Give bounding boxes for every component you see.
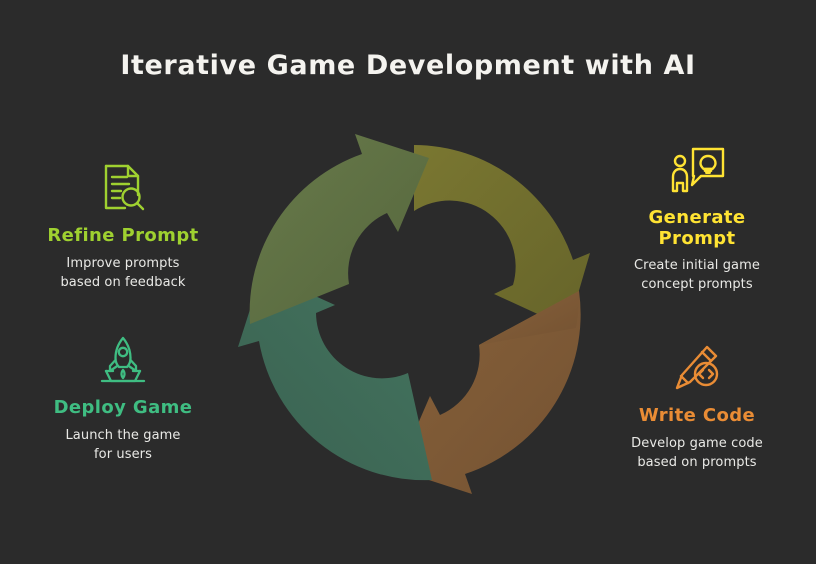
node-description-line1: Create initial game <box>592 257 802 276</box>
node-write-code[interactable]: Write Code Develop game code based on pr… <box>592 338 802 472</box>
node-description-line2: concept prompts <box>592 276 802 295</box>
node-description: Launch the game for users <box>18 427 228 465</box>
node-description-line1: Develop game code <box>592 435 802 454</box>
node-refine-prompt[interactable]: Refine Prompt Improve prompts based on f… <box>18 158 228 292</box>
node-description: Improve prompts based on feedback <box>18 255 228 293</box>
node-title: Write Code <box>592 406 802 427</box>
node-title: Deploy Game <box>18 398 228 419</box>
node-description-line1: Launch the game <box>18 427 228 446</box>
node-title-line1: Generate <box>592 208 802 229</box>
infographic-canvas: Iterative Game Development with AI <box>0 0 816 564</box>
node-title: Refine Prompt <box>18 226 228 247</box>
node-description-line2: based on prompts <box>592 454 802 473</box>
pencil-code-icon <box>592 338 802 400</box>
rocket-launch-icon <box>18 330 228 392</box>
node-deploy-game[interactable]: Deploy Game Launch the game for users <box>18 330 228 464</box>
cycle-diagram <box>238 132 590 494</box>
page-title: Iterative Game Development with AI <box>0 50 816 81</box>
node-description-line2: based on feedback <box>18 274 228 293</box>
person-idea-bubble-icon <box>592 140 802 202</box>
node-description-line2: for users <box>18 446 228 465</box>
node-generate-prompt[interactable]: Generate Prompt Create initial game conc… <box>592 140 802 295</box>
node-title-line2: Prompt <box>592 229 802 250</box>
node-description: Develop game code based on prompts <box>592 435 802 473</box>
node-description-line1: Improve prompts <box>18 255 228 274</box>
document-search-icon <box>18 158 228 220</box>
cycle-segment-refine <box>250 134 429 324</box>
node-title: Generate Prompt <box>592 208 802 249</box>
node-description: Create initial game concept prompts <box>592 257 802 295</box>
